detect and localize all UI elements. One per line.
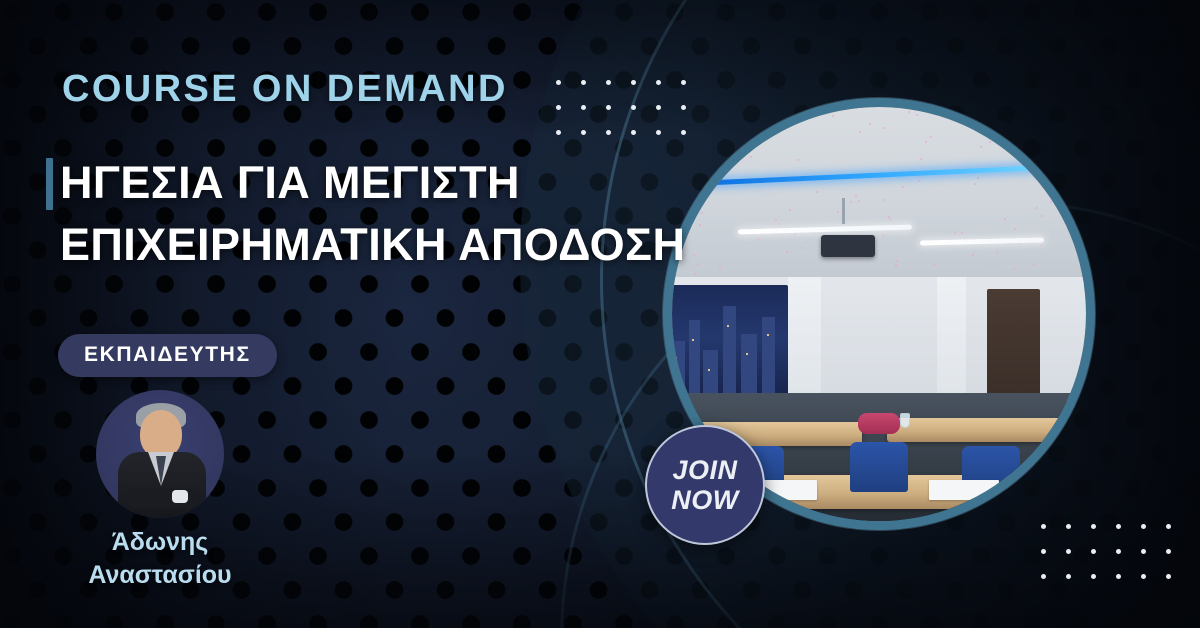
avatar-head	[140, 410, 182, 458]
title-accent-bar	[46, 158, 53, 210]
projector-arm	[842, 198, 845, 224]
ceiling-star-light	[1031, 124, 1033, 126]
ceiling-projector	[821, 235, 875, 257]
ceiling-star-light	[816, 191, 818, 193]
grid-dot	[1141, 524, 1146, 529]
instructor-badge: ΕΚΠΑΙΔΕΥΤΗΣ	[58, 334, 277, 377]
grid-dot	[1141, 549, 1146, 554]
handbag	[858, 413, 899, 434]
ceiling-star-light	[933, 264, 935, 266]
instructor-avatar	[96, 390, 224, 518]
grid-dot	[656, 105, 661, 110]
ceiling-star-light	[895, 264, 897, 266]
ceiling-star-light	[1065, 155, 1067, 157]
grid-dot	[1091, 524, 1096, 529]
ceiling-star-light	[801, 247, 803, 249]
grid-dot	[581, 130, 586, 135]
ceiling-star-light	[889, 218, 891, 220]
grid-dot	[1091, 574, 1096, 579]
water-glass-2	[900, 413, 910, 428]
join-now-line-2: NOW	[671, 485, 738, 515]
ceiling-star-light	[883, 127, 885, 129]
ceiling-star-light	[1013, 268, 1015, 270]
ceiling-star-light	[1055, 149, 1057, 151]
course-promo-banner: COURSE ON DEMAND ΗΓΕΣΙΑ ΓΙΑ ΜΕΓΙΣΤΗ ΕΠΙΧ…	[0, 0, 1200, 628]
ceiling-star-light	[930, 136, 932, 138]
ceiling-star-light	[948, 112, 950, 114]
grid-dot	[606, 130, 611, 135]
grid-dot	[631, 80, 636, 85]
grid-dot	[1166, 549, 1171, 554]
ceiling-star-light	[980, 146, 982, 148]
ceiling-star-light	[1041, 215, 1043, 217]
grid-dot	[681, 80, 686, 85]
ceiling-star-light	[902, 186, 904, 188]
ceiling-star-light	[882, 234, 884, 236]
avatar-cuff	[172, 490, 188, 503]
grid-dot	[1041, 549, 1046, 554]
ceiling-star-light	[1018, 243, 1020, 245]
ceiling-star-light	[916, 114, 918, 116]
ceiling-star-light	[750, 156, 752, 158]
instructor-name: Άδωνης Αναστασίου	[0, 526, 320, 592]
ceiling-star-light	[786, 251, 788, 253]
ceiling-star-light	[757, 238, 759, 240]
ceiling-star-light	[974, 183, 976, 185]
ceiling-star-light	[908, 111, 910, 113]
grid-dot	[556, 130, 561, 135]
door	[987, 289, 1041, 401]
ceiling-star-light	[719, 266, 721, 268]
join-now-button[interactable]: JOIN NOW	[645, 425, 765, 545]
ceiling-star-light	[925, 141, 927, 143]
grid-dot	[1066, 524, 1071, 529]
grid-dot	[606, 80, 611, 85]
grid-dot	[556, 105, 561, 110]
ceiling-star-light	[972, 254, 974, 256]
ceiling-star-light	[789, 209, 791, 211]
ceiling-star-light	[1030, 121, 1032, 123]
grid-dot	[1091, 549, 1096, 554]
grid-dot	[656, 80, 661, 85]
ceiling-star-light	[693, 254, 695, 256]
ceiling-star-light	[994, 131, 996, 133]
grid-dot	[1116, 524, 1121, 529]
grid-dot	[1116, 549, 1121, 554]
ceiling-star-light	[1082, 198, 1084, 200]
chair-2	[850, 442, 908, 492]
ceiling-star-light	[961, 232, 963, 234]
page-title: ΗΓΕΣΙΑ ΓΙΑ ΜΕΓΙΣΤΗ ΕΠΙΧΕΙΡΗΜΑΤΙΚΗ ΑΠΟΔΟΣ…	[46, 152, 686, 276]
ceiling-star-light	[896, 260, 898, 262]
ceiling-star-light	[703, 168, 705, 170]
ceiling-star-light	[1027, 116, 1029, 118]
grid-dot	[681, 130, 686, 135]
desk-row-back-right	[887, 418, 1077, 443]
eyebrow-label: COURSE ON DEMAND	[62, 68, 508, 111]
ceiling-star-light	[850, 201, 852, 203]
grid-dot	[1166, 574, 1171, 579]
ceiling-star-light	[920, 158, 922, 160]
ceiling-star-light	[979, 109, 981, 111]
grid-dot	[1066, 574, 1071, 579]
ceiling-star-light	[697, 264, 699, 266]
grid-dot	[581, 80, 586, 85]
ceiling-star-light	[778, 223, 780, 225]
city-mural	[672, 285, 788, 401]
ceiling-star-light	[996, 252, 998, 254]
ceiling-star-light	[699, 224, 701, 226]
title-line-1: ΗΓΕΣΙΑ ΓΙΑ ΜΕΓΙΣΤΗ	[46, 152, 686, 214]
wall-pillar-right	[937, 277, 966, 401]
ceiling-star-light	[775, 219, 777, 221]
grid-dot	[656, 130, 661, 135]
dot-grid-corner	[1041, 524, 1191, 599]
ceiling-star-light	[1036, 207, 1038, 209]
ceiling-star-light	[918, 180, 920, 182]
ceiling-star-light	[1073, 173, 1075, 175]
ceiling-star-light	[883, 199, 885, 201]
ceiling-star-light	[694, 273, 696, 275]
ceiling-star-light	[832, 115, 834, 117]
ceiling-star-light	[954, 232, 956, 234]
ceiling-star-light	[858, 200, 860, 202]
grid-dot	[631, 130, 636, 135]
grid-dot	[556, 80, 561, 85]
grid-dot	[581, 105, 586, 110]
ceiling-star-light	[1033, 264, 1035, 266]
ceiling-star-light	[859, 131, 861, 133]
instructor-last-name: Αναστασίου	[0, 559, 320, 592]
ceiling-star-light	[701, 212, 703, 214]
instructor-first-name: Άδωνης	[0, 526, 320, 559]
ceiling-star-light	[797, 159, 799, 161]
ceiling-star-light	[1057, 120, 1059, 122]
ceiling-star-light	[1004, 218, 1006, 220]
grid-dot	[606, 105, 611, 110]
wall-pillar-left	[788, 277, 821, 401]
dot-grid-header	[556, 80, 706, 155]
title-line-2: ΕΠΙΧΕΙΡΗΜΑΤΙΚΗ ΑΠΟΔΟΣΗ	[46, 214, 686, 276]
ceiling-star-light	[837, 211, 839, 213]
ceiling-star-light	[1050, 201, 1052, 203]
ceiling-star-light	[1014, 228, 1016, 230]
grid-dot	[1116, 574, 1121, 579]
grid-dot	[1041, 574, 1046, 579]
ceiling-star-light	[989, 141, 991, 143]
ceiling-star-light	[977, 177, 979, 179]
ceiling-star-light	[1040, 244, 1042, 246]
grid-dot	[1141, 574, 1146, 579]
ceiling-star-light	[855, 195, 857, 197]
ceiling-star-light	[1079, 180, 1081, 182]
grid-dot	[631, 105, 636, 110]
ceiling-star-light	[869, 123, 871, 125]
grid-dot	[681, 105, 686, 110]
handout-2	[929, 480, 999, 501]
ceiling	[672, 107, 1086, 285]
ceiling-star-light	[794, 233, 796, 235]
grid-dot	[1166, 524, 1171, 529]
ceiling-star-light	[1044, 108, 1046, 110]
grid-dot	[1066, 549, 1071, 554]
join-now-line-1: JOIN	[672, 455, 737, 485]
ceiling-star-light	[991, 263, 993, 265]
grid-dot	[1041, 524, 1046, 529]
